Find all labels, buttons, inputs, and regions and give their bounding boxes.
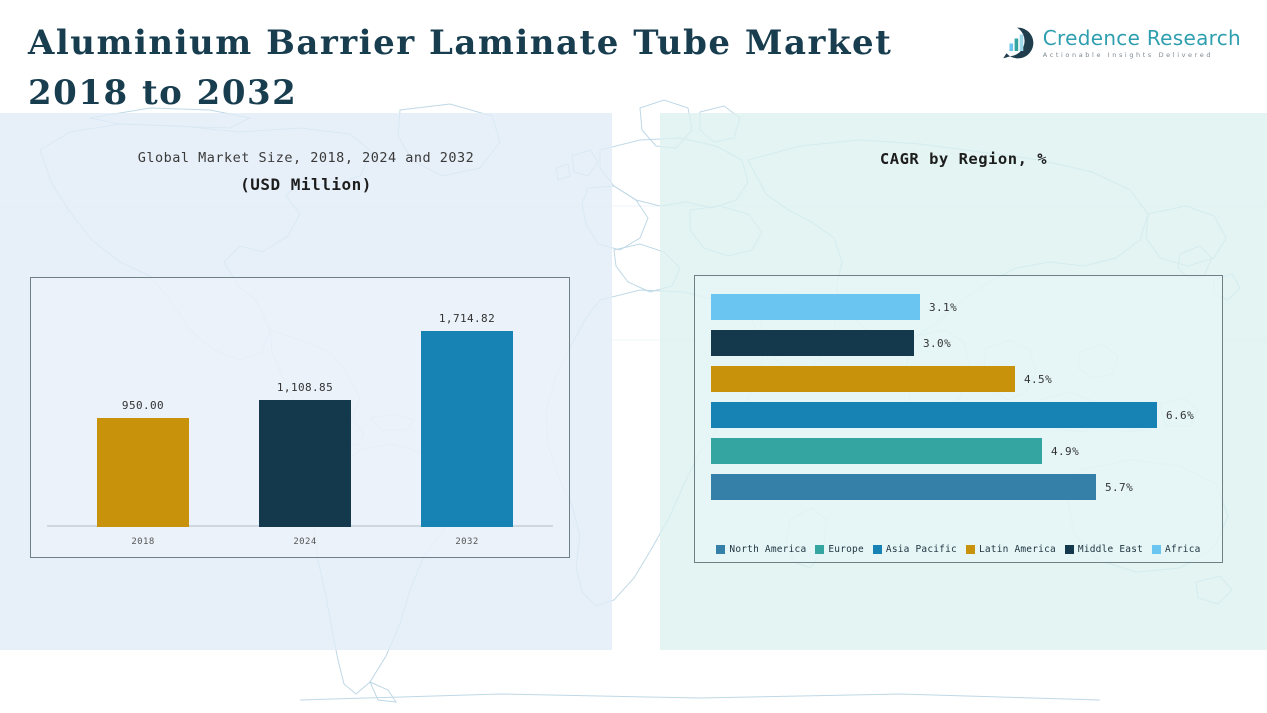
legend-item[interactable]: Asia Pacific: [873, 544, 957, 555]
legend-item[interactable]: Latin America: [966, 544, 1056, 555]
legend-swatch-icon: [1152, 545, 1161, 554]
bar-value-label: 3.1%: [929, 301, 957, 314]
bar-rect: [711, 330, 914, 356]
bar-value-label: 950.00: [122, 399, 164, 412]
legend-item[interactable]: Middle East: [1065, 544, 1143, 555]
vertical-bar-group: 950.0020181,108.8520241,714.822032: [31, 278, 569, 557]
bar-rect: [711, 438, 1042, 464]
bar-chart-speech-bubble-icon: [1000, 26, 1034, 60]
legend-swatch-icon: [815, 545, 824, 554]
legend-item[interactable]: Europe: [815, 544, 864, 555]
bar-value-label: 1,714.82: [439, 312, 495, 325]
legend-swatch-icon: [873, 545, 882, 554]
bar-column: 1,108.85: [259, 381, 351, 527]
left-chart-heading: Global Market Size, 2018, 2024 and 2032 …: [0, 150, 612, 194]
bar-category-label: 2024: [259, 537, 351, 547]
page-title: Aluminium Barrier Laminate Tube Market 2…: [28, 18, 978, 118]
bar-row: 3.1%: [711, 294, 957, 320]
bar-rect: [259, 400, 351, 527]
bar-category-label: 2018: [97, 537, 189, 547]
right-chart-heading: CAGR by Region, %: [660, 150, 1267, 168]
bar-value-label: 4.5%: [1024, 373, 1052, 386]
left-chart-title: Global Market Size, 2018, 2024 and 2032: [0, 150, 612, 166]
bar-rect: [711, 294, 920, 320]
bar-row: 4.9%: [711, 438, 1079, 464]
bar-row: 4.5%: [711, 366, 1052, 392]
legend-label: Asia Pacific: [886, 544, 957, 555]
bar-category-label: 2032: [421, 537, 513, 547]
bar-value-label: 5.7%: [1105, 481, 1133, 494]
bar-rect: [711, 402, 1157, 428]
bar-value-label: 4.9%: [1051, 445, 1079, 458]
legend-label: North America: [729, 544, 806, 555]
bar-row: 5.7%: [711, 474, 1133, 500]
bar-column: 1,714.82: [421, 312, 513, 527]
brand-logo-text: Credence Research Actionable Insights De…: [1043, 27, 1241, 60]
cagr-by-region-plot: 3.1%3.0%4.5%6.6%4.9%5.7% North AmericaEu…: [694, 275, 1223, 563]
legend-item[interactable]: Africa: [1152, 544, 1201, 555]
legend-swatch-icon: [966, 545, 975, 554]
legend-label: Africa: [1165, 544, 1201, 555]
bar-rect: [97, 418, 189, 527]
bar-column: 950.00: [97, 399, 189, 527]
bar-value-label: 3.0%: [923, 337, 951, 350]
bar-rect: [711, 366, 1015, 392]
bar-rect: [711, 474, 1096, 500]
legend-swatch-icon: [716, 545, 725, 554]
legend-label: Middle East: [1078, 544, 1143, 555]
bar-value-label: 1,108.85: [277, 381, 333, 394]
bar-value-label: 6.6%: [1166, 409, 1194, 422]
global-market-size-plot: 950.0020181,108.8520241,714.822032: [30, 277, 570, 558]
brand-name: Credence Research: [1043, 27, 1241, 49]
legend-swatch-icon: [1065, 545, 1074, 554]
left-chart-subtitle: (USD Million): [0, 175, 612, 194]
region-legend: North AmericaEuropeAsia PacificLatin Ame…: [695, 544, 1222, 555]
horizontal-bar-group: 3.1%3.0%4.5%6.6%4.9%5.7%: [695, 276, 1222, 562]
header: Aluminium Barrier Laminate Tube Market 2…: [0, 0, 1267, 113]
bar-rect: [421, 331, 513, 527]
legend-label: Europe: [828, 544, 864, 555]
brand-tagline: Actionable Insights Delivered: [1043, 50, 1241, 60]
right-chart-title: CAGR by Region, %: [660, 150, 1267, 168]
brand-logo: Credence Research Actionable Insights De…: [1000, 26, 1241, 60]
bar-row: 3.0%: [711, 330, 951, 356]
legend-item[interactable]: North America: [716, 544, 806, 555]
legend-label: Latin America: [979, 544, 1056, 555]
bar-row: 6.6%: [711, 402, 1194, 428]
